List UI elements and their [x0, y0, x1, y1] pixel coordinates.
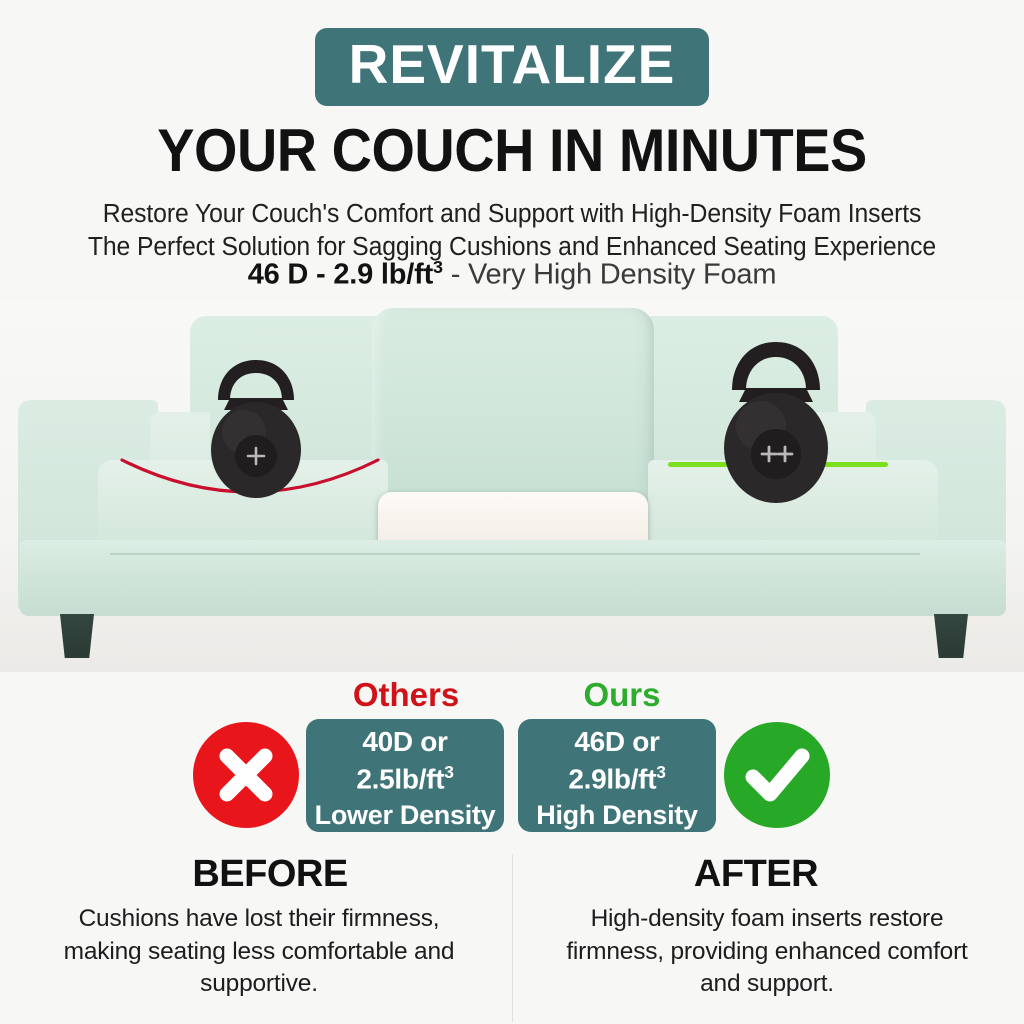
- sofa-leg-left: [60, 614, 94, 658]
- badge-others-line-2: 2.5lb/ft3: [306, 761, 504, 798]
- label-ours: Ours: [522, 676, 722, 714]
- product-infographic: REVITALIZE YOUR COUCH IN MINUTES Restore…: [0, 0, 1024, 1024]
- badge-others-line-1: 40D or: [306, 724, 504, 761]
- section-divider: [512, 854, 513, 1022]
- sofa-center-backrest: [372, 308, 654, 514]
- page-headline: YOUR COUCH IN MINUTES: [36, 119, 988, 182]
- density-spec-value: 46 D - 2.9 lb/ft: [248, 259, 433, 291]
- kettlebell-heavy-icon: [706, 330, 846, 510]
- badge-ours-line-3: High Density: [518, 798, 716, 833]
- density-spec-superscript: 3: [433, 257, 443, 277]
- sofa-illustration: [0, 300, 1024, 672]
- check-icon: [724, 722, 830, 828]
- badge-ours-line-2: 2.9lb/ft3: [518, 761, 716, 798]
- badge-ours-line-2-sup: 3: [656, 762, 665, 782]
- after-description: High-density foam inserts restore firmne…: [552, 903, 982, 1001]
- badge-ours-line-2-text: 2.9lb/ft: [568, 763, 656, 794]
- sofa-leg-right: [934, 614, 968, 658]
- badge-others-line-2-text: 2.5lb/ft: [356, 763, 444, 794]
- kettlebell-light-icon: [196, 346, 316, 506]
- cross-icon: [193, 722, 299, 828]
- before-title: BEFORE: [70, 853, 470, 896]
- after-title: AFTER: [556, 853, 956, 896]
- badge-others-line-2-sup: 3: [444, 762, 453, 782]
- badge-ours-line-1: 46D or: [518, 724, 716, 761]
- subtitle-line-1: Restore Your Couch's Comfort and Support…: [15, 198, 1008, 231]
- label-others: Others: [306, 676, 506, 714]
- sofa-base-seam: [110, 553, 920, 555]
- subtitle-block: Restore Your Couch's Comfort and Support…: [15, 198, 1008, 265]
- badge-others-density: 40D or 2.5lb/ft3 Lower Density: [306, 719, 504, 832]
- revitalize-banner: REVITALIZE: [315, 28, 710, 106]
- density-spec-descriptor: - Very High Density Foam: [443, 259, 776, 291]
- density-spec-line: 46 D - 2.9 lb/ft3 - Very High Density Fo…: [0, 257, 1024, 292]
- badge-others-line-3: Lower Density: [306, 798, 504, 833]
- banner-container: REVITALIZE: [0, 28, 1024, 106]
- sofa-base: [20, 540, 1006, 616]
- badge-ours-density: 46D or 2.9lb/ft3 High Density: [518, 719, 716, 832]
- before-description: Cushions have lost their firmness, makin…: [44, 903, 474, 1001]
- comparison-section: Others Ours 40D or 2.5lb/ft3 Lower Densi…: [0, 676, 1024, 1024]
